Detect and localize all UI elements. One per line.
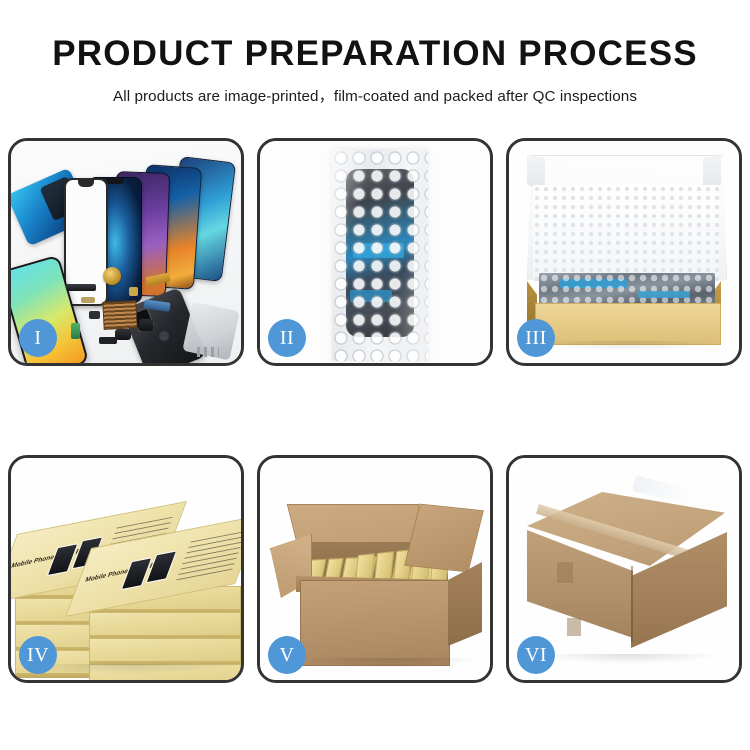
box-spec-lines-front	[175, 531, 241, 583]
step-6-shadow	[539, 654, 719, 664]
step-badge-1: I	[19, 319, 57, 357]
screws-group	[197, 347, 219, 357]
carton-body-front	[300, 580, 450, 666]
small-part-2	[81, 297, 95, 303]
process-step-panel-6[interactable]: VI	[506, 455, 742, 683]
process-step-panel-2[interactable]: II	[257, 138, 493, 366]
small-part-4	[99, 337, 117, 344]
step-3-shadow	[537, 341, 717, 351]
foam-liner	[533, 185, 719, 281]
process-step-panel-4[interactable]: Mobile Phone Spare Parts Mobile Phone Sp…	[8, 455, 244, 683]
vibration-motor-part	[103, 267, 121, 285]
process-step-panel-1[interactable]: I	[8, 138, 244, 366]
carton-corner-seam	[631, 566, 633, 642]
earpiece-part	[66, 284, 96, 291]
process-step-panel-3[interactable]: III	[506, 138, 742, 366]
camera-module-part	[139, 319, 153, 331]
step-5-shadow	[302, 658, 478, 668]
step-badge-5: V	[268, 636, 306, 674]
battery-part	[71, 323, 80, 339]
carton-tape-patch-2	[567, 618, 581, 636]
step-badge-4: IV	[19, 636, 57, 674]
process-step-grid: I II III	[8, 138, 742, 683]
small-part-1	[89, 311, 100, 319]
small-part-3	[159, 331, 169, 341]
step-badge-6: VI	[517, 636, 555, 674]
bubble-wrap-sleeve	[332, 149, 428, 361]
step-badge-2: II	[268, 319, 306, 357]
connector-grid-part	[102, 300, 137, 330]
step-badge-3: III	[517, 319, 555, 357]
stacked-box-right-3	[89, 638, 241, 666]
small-part-5	[129, 287, 138, 296]
page-header: PRODUCT PREPARATION PROCESS All products…	[0, 0, 750, 106]
box-front-panel	[535, 303, 721, 345]
plastic-sheen	[332, 149, 428, 361]
page-subtitle: All products are image-printed，film-coat…	[0, 73, 750, 106]
page-title: PRODUCT PREPARATION PROCESS	[0, 0, 750, 73]
carton-tape-patch-1	[557, 562, 573, 583]
packed-screens-row	[539, 273, 715, 307]
packed-bubble-texture	[539, 273, 715, 307]
stacked-box-right-2	[89, 612, 241, 640]
phone-notch-icon	[106, 178, 125, 184]
speaker-part	[115, 329, 131, 340]
process-step-panel-5[interactable]: V	[257, 455, 493, 683]
